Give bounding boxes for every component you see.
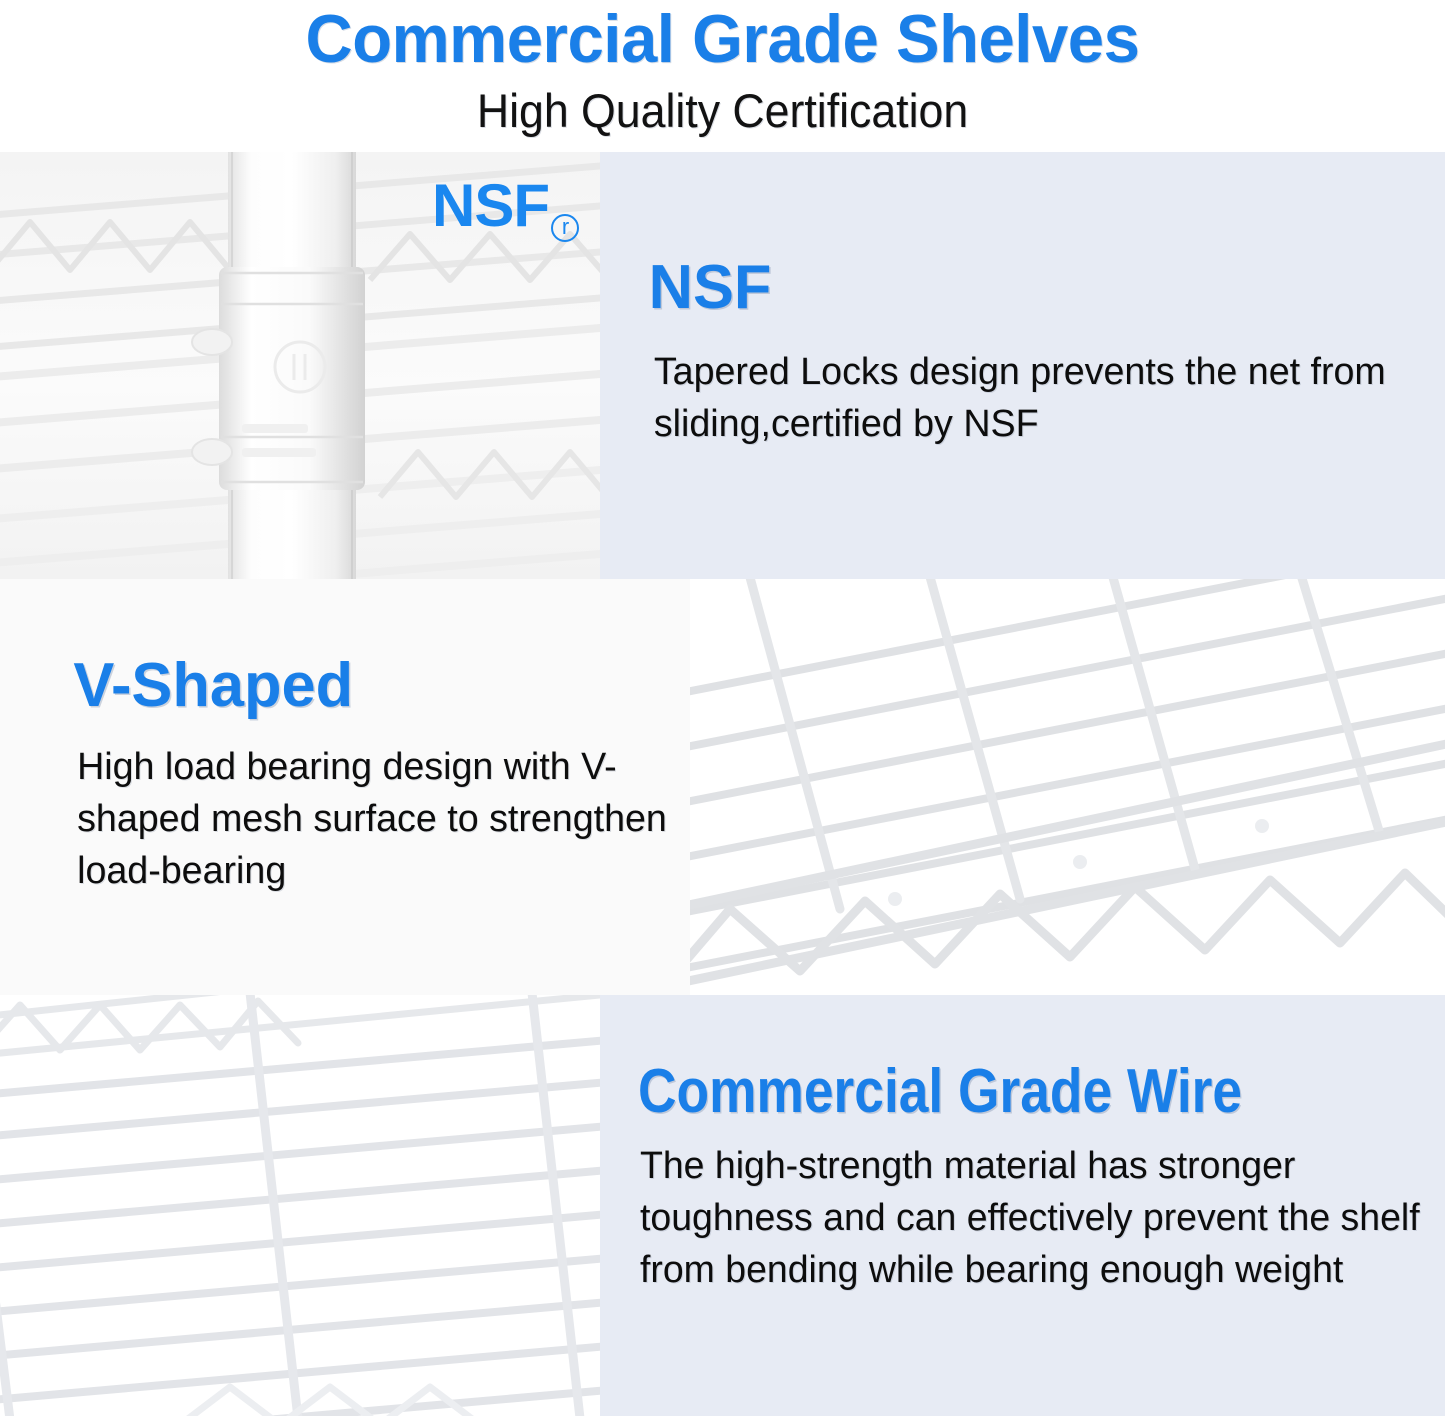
feature-text-v-shaped: V-Shaped High load bearing design with V…: [0, 579, 690, 995]
infographic-header: Commercial Grade Shelves High Quality Ce…: [0, 0, 1445, 152]
nsf-logo-text: NSF: [432, 172, 549, 239]
feature-body-v-shaped: High load bearing design with V-shaped m…: [77, 741, 690, 897]
feature-body-nsf: Tapered Locks design prevents the net fr…: [654, 346, 1416, 450]
registered-trademark-icon: r: [551, 214, 579, 242]
product-infographic: Commercial Grade Shelves High Quality Ce…: [0, 0, 1445, 1416]
feature-text-commercial-grade-wire: Commercial Grade Wire The high-strength …: [600, 995, 1445, 1416]
page-subtitle: High Quality Certification: [36, 84, 1409, 138]
v-shaped-mesh-illustration: [690, 579, 1445, 995]
nsf-certification-logo: NSFr: [432, 176, 577, 236]
feature-photo-commercial-grade-wire: [0, 995, 600, 1416]
page-title: Commercial Grade Shelves: [29, 2, 1416, 76]
feature-heading-v-shaped: V-Shaped: [73, 653, 353, 719]
commercial-grade-wire-illustration: [0, 995, 600, 1416]
feature-heading-commercial-grade-wire: Commercial Grade Wire: [638, 1057, 1242, 1127]
feature-heading-nsf: NSF: [649, 255, 772, 321]
feature-photo-v-shaped: [690, 579, 1445, 995]
feature-photo-nsf: NSFr: [0, 152, 600, 579]
feature-body-commercial-grade-wire: The high-strength material has stronger …: [640, 1140, 1428, 1296]
feature-text-nsf: NSF Tapered Locks design prevents the ne…: [600, 152, 1445, 579]
